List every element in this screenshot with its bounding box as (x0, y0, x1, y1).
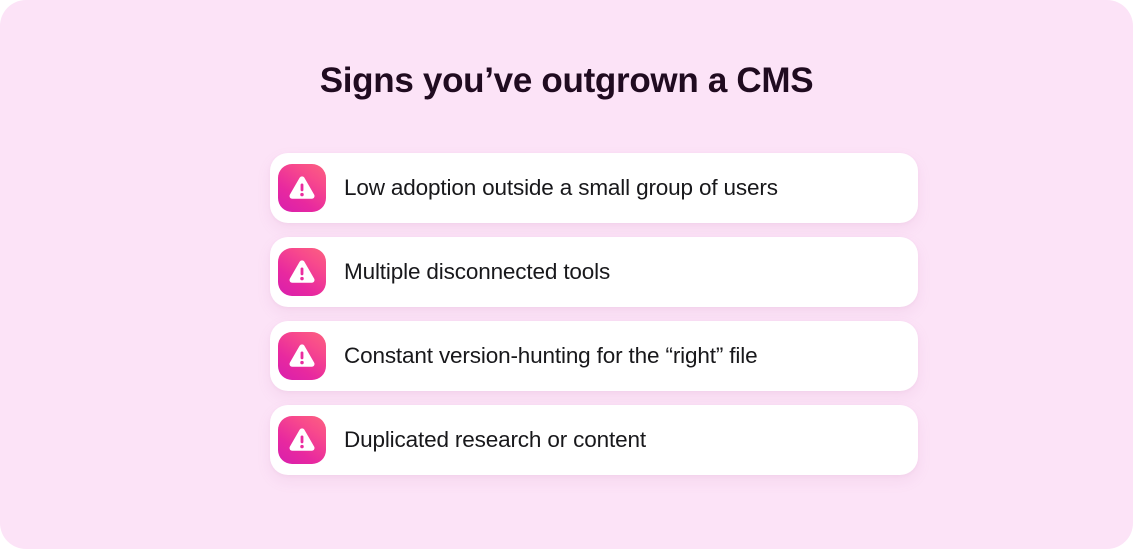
list-item-label: Duplicated research or content (344, 426, 646, 454)
warning-triangle-icon (278, 164, 326, 212)
list-item-label: Multiple disconnected tools (344, 258, 610, 286)
list-item[interactable]: Low adoption outside a small group of us… (270, 153, 918, 223)
warning-triangle-icon (278, 248, 326, 296)
infographic-canvas: Signs you’ve outgrown a CMS Low adoption… (0, 0, 1133, 549)
page-title: Signs you’ve outgrown a CMS (0, 57, 1133, 105)
list-item[interactable]: Duplicated research or content (270, 405, 918, 475)
warning-triangle-icon (278, 332, 326, 380)
warning-triangle-icon (278, 416, 326, 464)
content-panel: Signs you’ve outgrown a CMS Low adoption… (0, 0, 1133, 549)
list-item-label: Low adoption outside a small group of us… (344, 174, 778, 202)
signs-list: Low adoption outside a small group of us… (270, 153, 918, 475)
list-item[interactable]: Multiple disconnected tools (270, 237, 918, 307)
list-item-label: Constant version-hunting for the “right”… (344, 342, 757, 370)
list-item[interactable]: Constant version-hunting for the “right”… (270, 321, 918, 391)
